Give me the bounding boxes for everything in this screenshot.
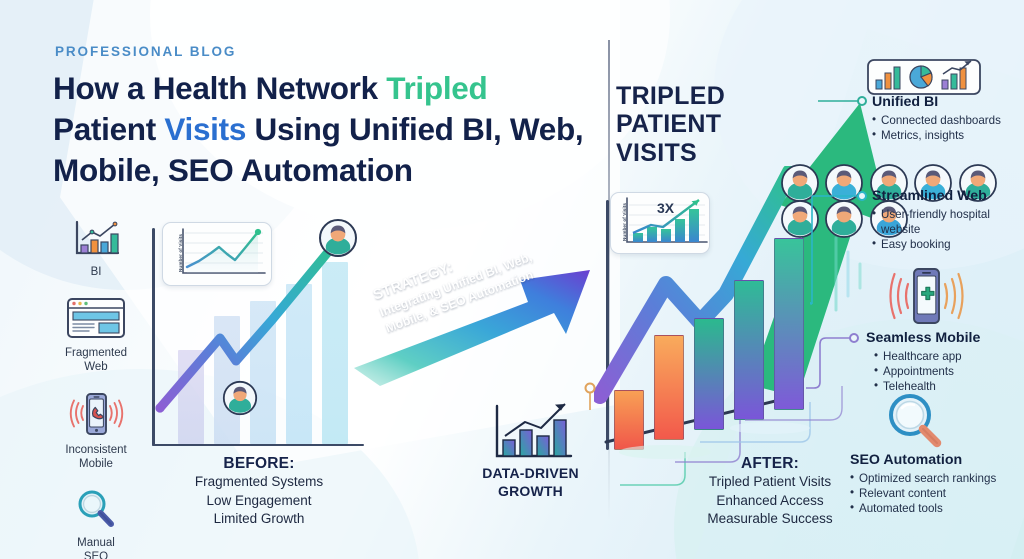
rail-item-label: Manual SEO	[77, 536, 115, 559]
callout-bullets: Optimized search rankings Relevant conte…	[850, 471, 1024, 516]
mobile-phone-icon	[65, 390, 127, 438]
after-headline: TRIPLED PATIENT VISITS	[616, 82, 725, 167]
bar-chart-icon	[70, 218, 122, 260]
callout-bullet: Relevant content	[850, 486, 1024, 501]
title-highlight-visits: Visits	[164, 111, 246, 147]
mini-chart-axis-label: Number of Visits	[622, 203, 627, 241]
rail-item-label: BI	[91, 265, 102, 279]
title-segment: How a Health Network	[53, 70, 386, 106]
infographic-canvas: PROFESSIONAL BLOG How a Health Network T…	[0, 0, 1024, 559]
mobile-health-icon	[884, 266, 968, 330]
before-caption-title: BEFORE:	[148, 455, 370, 473]
title-segment: Patient	[53, 111, 164, 147]
page-title: How a Health Network Tripled Patient Vis…	[53, 68, 598, 191]
before-chart: Number of Visits	[152, 228, 364, 446]
before-caption-line: Limited Growth	[148, 510, 370, 529]
callout-bullet: Easy booking	[872, 237, 1024, 252]
callout-connector-seamless-mobile	[806, 332, 862, 402]
callout-bullet: User-friendly hospital website	[872, 207, 1024, 237]
eyebrow-label: PROFESSIONAL BLOG	[55, 44, 236, 59]
before-inset-card: Number of Visits	[162, 222, 272, 286]
callout-bullet: Automated tools	[850, 501, 1024, 516]
before-caption-line: Fragmented Systems	[148, 473, 370, 492]
analytics-dashboard-icon	[866, 56, 982, 98]
callout-seamless-mobile: Seamless Mobile Healthcare app Appointme…	[866, 330, 1024, 394]
callout-seo-automation: SEO Automation Optimized search rankings…	[850, 452, 1024, 516]
callout-bullet: Metrics, insights	[872, 128, 1024, 143]
svg-text:3X: 3X	[657, 200, 675, 216]
left-icon-rail: BI Fragmented Web	[48, 218, 144, 559]
callout-bullet: Optimized search rankings	[850, 471, 1024, 486]
callout-bullet: Healthcare app	[874, 349, 1024, 364]
before-caption-line: Low Engagement	[148, 492, 370, 511]
rail-item-label: Inconsistent Mobile	[65, 443, 126, 471]
after-caption-line: Enhanced Access	[660, 492, 880, 511]
callout-title: SEO Automation	[850, 452, 1024, 469]
browser-window-icon	[65, 295, 127, 341]
callout-bullet: Connected dashboards	[872, 113, 1024, 128]
rail-item-label: Fragmented Web	[65, 346, 127, 374]
rail-item-fragmented-web: Fragmented Web	[48, 295, 144, 374]
callout-bullet: Appointments	[874, 364, 1024, 379]
after-caption: AFTER: Tripled Patient Visits Enhanced A…	[660, 455, 880, 529]
strategy-arrow: STRATEGY: Integrating Unified BI, Web, M…	[352, 250, 602, 395]
callout-streamlined-web: Streamlined Web User-friendly hospital w…	[872, 188, 1024, 252]
before-caption: BEFORE: Fragmented Systems Low Engagemen…	[148, 455, 370, 529]
callout-bullets: User-friendly hospital website Easy book…	[872, 207, 1024, 252]
callout-bullets: Healthcare app Appointments Telehealth	[866, 349, 1024, 394]
rail-item-manual-seo: Manual SEO	[48, 487, 144, 559]
after-caption-line: Measurable Success	[660, 510, 880, 529]
callout-connector-streamlined-web	[810, 190, 868, 310]
callout-unified-bi: Unified BI Connected dashboards Metrics,…	[872, 94, 1024, 143]
callout-title: Unified BI	[872, 94, 1024, 111]
callout-title: Seamless Mobile	[866, 330, 1024, 347]
data-driven-growth-icon	[487, 398, 577, 468]
after-caption-title: AFTER:	[660, 455, 880, 473]
magnifier-icon	[880, 390, 950, 452]
after-inset-card: 3X Number of Visits	[610, 192, 710, 254]
callout-connector-unified-bi	[818, 93, 868, 109]
magnifier-icon	[72, 487, 120, 531]
after-caption-line: Tripled Patient Visits	[660, 473, 880, 492]
rail-item-inconsistent-mobile: Inconsistent Mobile	[48, 390, 144, 471]
callout-bullets: Connected dashboards Metrics, insights	[872, 113, 1024, 143]
callout-title: Streamlined Web	[872, 188, 1024, 205]
avatar	[222, 380, 258, 416]
rail-item-bi: BI	[48, 218, 144, 279]
mini-chart-axis-label: Number of Visits	[178, 234, 183, 272]
title-highlight-tripled: Tripled	[386, 70, 487, 106]
data-driven-growth-label: DATA-DRIVEN GROWTH	[463, 465, 598, 500]
